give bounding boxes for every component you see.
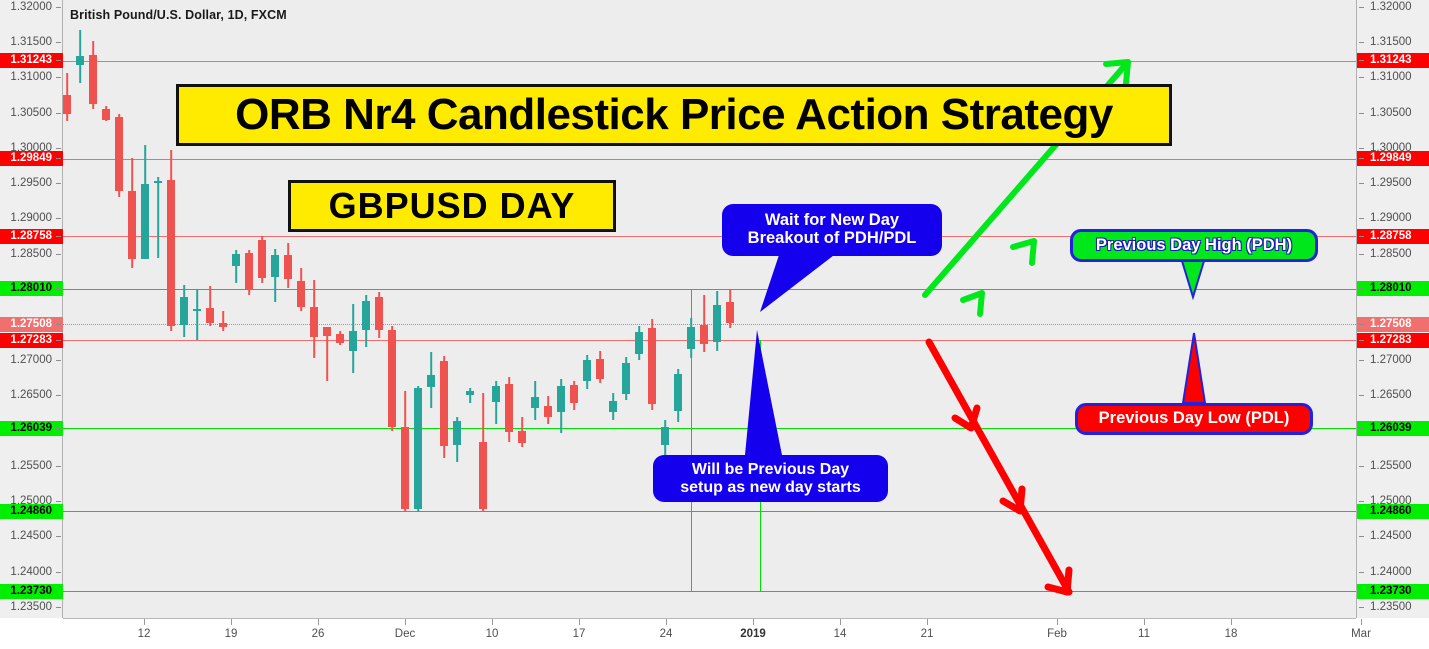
- candlestick: [89, 41, 98, 109]
- tick-mark: [56, 60, 61, 61]
- tick-mark: [1359, 218, 1364, 219]
- tick-mark: [1359, 183, 1364, 184]
- candlestick: [167, 150, 176, 331]
- price-label-1-31000: 1.31000: [0, 70, 63, 85]
- date-axis[interactable]: 121926Dec10172420191421Feb1118Mar: [0, 619, 1429, 649]
- candle-body: [726, 302, 735, 323]
- price-label-1-25500: 1.25500: [0, 459, 63, 474]
- tick-mark: [1359, 395, 1364, 396]
- price-label-1-27283: 1.27283: [1357, 333, 1429, 348]
- date-label-12: 12: [138, 628, 151, 640]
- candle-body: [414, 388, 423, 509]
- price-label-1-29000: 1.29000: [0, 211, 63, 226]
- date-tick: [840, 619, 841, 625]
- date-label-24: 24: [660, 628, 673, 640]
- candlestick: [310, 280, 319, 358]
- price-label-1-28010: 1.28010: [0, 281, 63, 296]
- date-tick: [1057, 619, 1058, 625]
- candle-body: [310, 307, 319, 337]
- tick-mark: [56, 324, 61, 325]
- candle-body: [232, 254, 241, 267]
- candle-body: [102, 109, 111, 120]
- price-label-1-23500: 1.23500: [0, 600, 63, 615]
- candlestick: [323, 332, 332, 381]
- candle-body: [700, 325, 709, 344]
- tick-mark: [1359, 324, 1364, 325]
- tick-mark: [56, 218, 61, 219]
- price-label-1-26500: 1.26500: [0, 388, 63, 403]
- chart-screenshot: 1.320001.320001.315001.315001.310001.310…: [0, 0, 1429, 649]
- tick-mark: [56, 428, 61, 429]
- tick-mark: [1359, 7, 1364, 8]
- callout-previous-day-setup: Will be Previous Day setup as new day st…: [653, 455, 888, 502]
- candle-body: [206, 308, 215, 323]
- callout-prevday-line1: Will be Previous Day: [692, 461, 849, 478]
- tick-mark: [56, 466, 61, 467]
- callout-wait-breakout: Wait for New Day Breakout of PDH/PDL: [722, 204, 942, 256]
- price-label-1-31243: 1.31243: [0, 53, 63, 68]
- date-tick: [927, 619, 928, 625]
- date-label-21: 21: [921, 628, 934, 640]
- candlestick: [700, 295, 709, 352]
- tick-mark: [56, 236, 61, 237]
- tick-mark: [56, 536, 61, 537]
- date-label-14: 14: [834, 628, 847, 640]
- tick-mark: [1359, 428, 1364, 429]
- price-label-1-24860: 1.24860: [1357, 504, 1429, 519]
- candlestick: [102, 106, 111, 122]
- tick-mark: [56, 572, 61, 573]
- date-tick: [318, 619, 319, 625]
- candle-body: [531, 397, 540, 408]
- candlestick: [453, 417, 462, 462]
- candlestick: [583, 355, 592, 389]
- price-label-1-23730: 1.23730: [0, 584, 63, 599]
- price-label-1-28010: 1.28010: [1357, 281, 1429, 296]
- price-label-1-27000: 1.27000: [0, 353, 63, 368]
- tick-mark: [1359, 466, 1364, 467]
- date-label-18: 18: [1225, 628, 1238, 640]
- candlestick: [63, 73, 72, 122]
- date-tick: [1231, 619, 1232, 625]
- price-line-1-23730[interactable]: [63, 591, 1356, 592]
- price-label-1-31243: 1.31243: [1357, 53, 1429, 68]
- date-tick: [666, 619, 667, 625]
- candlestick: [596, 351, 605, 383]
- candlestick: [687, 318, 696, 358]
- candlestick: [362, 295, 371, 347]
- candlestick: [609, 393, 618, 420]
- candlestick: [258, 236, 267, 283]
- tick-mark: [56, 77, 61, 78]
- candle-body: [453, 421, 462, 445]
- candlestick: [206, 286, 215, 326]
- tick-mark: [56, 591, 61, 592]
- candle-body: [154, 181, 163, 183]
- tick-mark: [1359, 236, 1364, 237]
- price-line-1-27283[interactable]: [63, 340, 1356, 341]
- tick-mark: [1359, 607, 1364, 608]
- candlestick: [479, 393, 488, 511]
- candle-body: [635, 332, 644, 354]
- candlestick: [661, 420, 670, 457]
- date-label-10: 10: [486, 628, 499, 640]
- candle-body: [349, 331, 358, 351]
- price-axis-right[interactable]: [1356, 0, 1429, 618]
- date-tick: [1144, 619, 1145, 625]
- callout-wait-line2: Breakout of PDH/PDL: [748, 230, 917, 248]
- candle-body: [297, 281, 306, 307]
- badge-previous-day-high: Previous Day High (PDH): [1070, 229, 1318, 262]
- candle-body: [362, 301, 371, 330]
- candle-wick: [196, 289, 198, 340]
- price-label-1-32000: 1.32000: [0, 0, 63, 15]
- candle-body: [76, 56, 85, 64]
- price-label-1-27508: 1.27508: [1357, 317, 1429, 332]
- price-label-1-28758: 1.28758: [0, 229, 63, 244]
- candle-body: [245, 253, 254, 290]
- candle-body: [570, 385, 579, 403]
- candlestick: [297, 268, 306, 311]
- tick-mark: [1359, 288, 1364, 289]
- price-label-1-27283: 1.27283: [0, 333, 63, 348]
- price-label-1-28500: 1.28500: [0, 247, 63, 262]
- price-label-1-29500: 1.29500: [0, 176, 63, 191]
- date-label-feb: Feb: [1047, 628, 1067, 640]
- price-label-1-30500: 1.30500: [1357, 106, 1429, 121]
- candle-body: [271, 255, 280, 277]
- price-label-1-26039: 1.26039: [0, 421, 63, 436]
- candlestick: [557, 379, 566, 433]
- candlestick: [505, 377, 514, 442]
- candle-body: [167, 180, 176, 326]
- candle-body: [609, 401, 618, 412]
- candle-body: [89, 55, 98, 104]
- symbol-title: British Pound/U.S. Dollar, 1D, FXCM: [70, 8, 287, 22]
- price-line-1-29849[interactable]: [63, 159, 1356, 160]
- tick-mark: [56, 183, 61, 184]
- candlestick: [115, 114, 124, 197]
- tick-mark: [56, 148, 61, 149]
- price-line-1-28010[interactable]: [63, 289, 1356, 290]
- candlestick: [466, 388, 475, 403]
- candle-body: [388, 330, 397, 427]
- price-label-1-29500: 1.29500: [1357, 176, 1429, 191]
- date-label-2019: 2019: [740, 628, 766, 640]
- tick-mark: [1359, 591, 1364, 592]
- candlestick: [349, 304, 358, 373]
- candle-body: [596, 359, 605, 378]
- candle-body: [648, 328, 657, 404]
- price-label-1-25500: 1.25500: [1357, 459, 1429, 474]
- candlestick: [622, 357, 631, 400]
- tick-mark: [1359, 501, 1364, 502]
- candlestick: [232, 250, 241, 282]
- candle-wick: [222, 311, 224, 331]
- tick-mark: [56, 340, 61, 341]
- price-label-1-26500: 1.26500: [1357, 388, 1429, 403]
- tick-mark: [56, 42, 61, 43]
- candle-body: [713, 305, 722, 342]
- candle-body: [323, 327, 332, 336]
- candlestick: [336, 331, 345, 346]
- candle-wick: [157, 177, 159, 259]
- date-tick: [405, 619, 406, 625]
- candle-body: [128, 191, 137, 260]
- price-label-1-26039: 1.26039: [1357, 421, 1429, 436]
- candle-body: [518, 431, 527, 443]
- price-label-1-32000: 1.32000: [1357, 0, 1429, 15]
- price-label-1-28758: 1.28758: [1357, 229, 1429, 244]
- candle-body: [180, 297, 189, 325]
- tick-mark: [1359, 572, 1364, 573]
- tick-mark: [1359, 360, 1364, 361]
- candlestick: [141, 145, 150, 256]
- tick-mark: [56, 113, 61, 114]
- candlestick: [427, 352, 436, 409]
- tick-mark: [1359, 536, 1364, 537]
- candle-body: [583, 360, 592, 381]
- price-label-1-31000: 1.31000: [1357, 70, 1429, 85]
- date-tick: [231, 619, 232, 625]
- tick-mark: [1359, 511, 1364, 512]
- tick-mark: [1359, 158, 1364, 159]
- tick-mark: [56, 501, 61, 502]
- candlestick: [219, 311, 228, 331]
- candlestick: [154, 177, 163, 259]
- tick-mark: [1359, 254, 1364, 255]
- candlestick: [635, 326, 644, 360]
- price-label-1-24860: 1.24860: [0, 504, 63, 519]
- candle-body: [115, 117, 124, 191]
- date-tick: [492, 619, 493, 625]
- tick-mark: [56, 360, 61, 361]
- candlestick: [674, 369, 683, 422]
- candlestick: [401, 391, 410, 511]
- price-label-1-23500: 1.23500: [1357, 600, 1429, 615]
- candlestick: [726, 289, 735, 329]
- tick-mark: [56, 158, 61, 159]
- candle-body: [401, 427, 410, 509]
- candlestick: [414, 386, 423, 512]
- callout-prevday-line2: setup as new day starts: [680, 479, 861, 496]
- tick-mark: [1359, 60, 1364, 61]
- callout-wait-line1: Wait for New Day: [765, 212, 899, 230]
- price-label-1-27000: 1.27000: [1357, 353, 1429, 368]
- date-tick: [753, 619, 754, 625]
- price-label-1-28500: 1.28500: [1357, 247, 1429, 262]
- price-label-1-29849: 1.29849: [0, 151, 63, 166]
- date-tick: [144, 619, 145, 625]
- date-label-dec: Dec: [395, 628, 415, 640]
- candle-body: [505, 384, 514, 432]
- candlestick: [375, 292, 384, 337]
- price-label-1-29849: 1.29849: [1357, 151, 1429, 166]
- price-line-1-27508[interactable]: [63, 324, 1356, 325]
- price-label-1-24500: 1.24500: [1357, 529, 1429, 544]
- candlestick: [76, 30, 85, 83]
- candle-body: [141, 184, 150, 259]
- price-label-1-30500: 1.30500: [0, 106, 63, 121]
- tick-mark: [56, 607, 61, 608]
- candle-body: [219, 323, 228, 327]
- price-label-1-24000: 1.24000: [0, 565, 63, 580]
- candlestick: [518, 417, 527, 447]
- tick-mark: [1359, 148, 1364, 149]
- candle-body: [479, 442, 488, 509]
- candle-body: [427, 375, 436, 387]
- date-tick: [579, 619, 580, 625]
- date-label-17: 17: [573, 628, 586, 640]
- candlestick: [271, 249, 280, 302]
- strategy-title-banner: ORB Nr4 Candlestick Price Action Strateg…: [176, 84, 1172, 146]
- candle-body: [661, 427, 670, 445]
- date-label-19: 19: [225, 628, 238, 640]
- candlestick: [284, 243, 293, 288]
- tick-mark: [1359, 77, 1364, 78]
- tick-mark: [56, 7, 61, 8]
- candle-body: [492, 386, 501, 402]
- price-label-1-24500: 1.24500: [0, 529, 63, 544]
- price-label-1-29000: 1.29000: [1357, 211, 1429, 226]
- candle-wick: [326, 332, 328, 381]
- axis-line-right: [1356, 0, 1357, 618]
- candle-body: [687, 327, 696, 349]
- date-label-26: 26: [312, 628, 325, 640]
- candlestick: [245, 250, 254, 294]
- price-label-1-31500: 1.31500: [0, 35, 63, 50]
- tick-mark: [56, 288, 61, 289]
- candlestick: [388, 326, 397, 431]
- tick-mark: [56, 511, 61, 512]
- tick-mark: [1359, 340, 1364, 341]
- badge-previous-day-low: Previous Day Low (PDL): [1075, 403, 1313, 435]
- candlestick: [440, 356, 449, 458]
- candlestick: [648, 319, 657, 409]
- price-label-1-27508: 1.27508: [0, 317, 63, 332]
- date-tick: [1361, 619, 1362, 625]
- tick-mark: [1359, 113, 1364, 114]
- candlestick: [544, 396, 553, 424]
- candle-body: [284, 255, 293, 279]
- tick-mark: [56, 254, 61, 255]
- price-axis-left[interactable]: [0, 0, 63, 618]
- price-label-1-31500: 1.31500: [1357, 35, 1429, 50]
- price-label-1-24000: 1.24000: [1357, 565, 1429, 580]
- candle-body: [466, 391, 475, 395]
- candle-body: [336, 334, 345, 343]
- tick-mark: [56, 395, 61, 396]
- candle-body: [193, 309, 202, 311]
- candlestick: [492, 381, 501, 424]
- candlestick: [713, 291, 722, 351]
- price-line-1-24860[interactable]: [63, 511, 1356, 512]
- candle-body: [440, 361, 449, 446]
- candlestick: [193, 289, 202, 340]
- candle-body: [63, 95, 72, 114]
- date-label-mar: Mar: [1351, 628, 1371, 640]
- candle-body: [674, 374, 683, 411]
- candle-body: [557, 386, 566, 412]
- candlestick: [531, 381, 540, 420]
- candlestick: [570, 381, 579, 410]
- candle-body: [375, 297, 384, 329]
- candle-body: [622, 363, 631, 394]
- candlestick: [180, 285, 189, 337]
- candle-body: [544, 406, 553, 417]
- price-line-1-31243[interactable]: [63, 61, 1356, 62]
- candle-body: [258, 240, 267, 277]
- tick-mark: [1359, 42, 1364, 43]
- date-label-11: 11: [1138, 628, 1150, 640]
- pair-banner: GBPUSD DAY: [288, 180, 616, 232]
- price-label-1-23730: 1.23730: [1357, 584, 1429, 599]
- candlestick: [128, 158, 137, 268]
